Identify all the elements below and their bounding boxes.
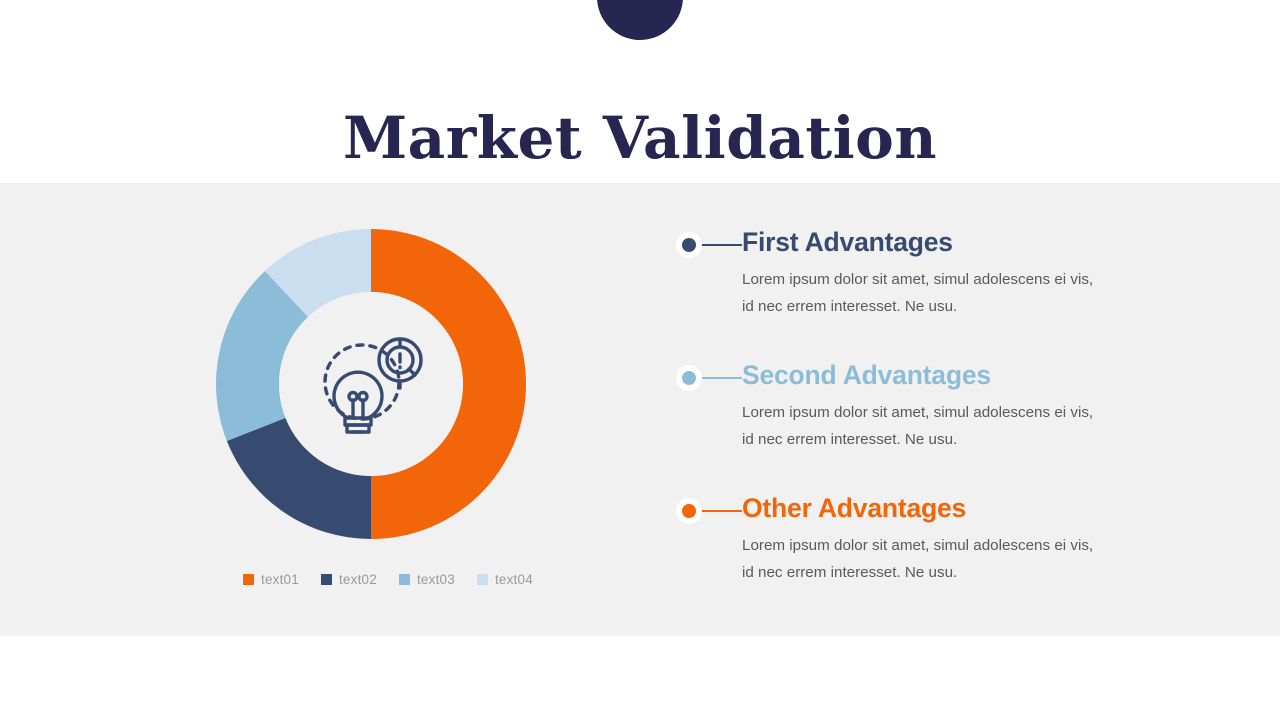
top-decoration-circle [597,0,683,40]
legend-label: text04 [495,572,533,587]
legend-swatch-icon [321,574,332,585]
lightbulb-alert-icon [312,330,430,438]
legend-item-text01[interactable]: text01 [243,572,299,587]
bullet-ring-icon [676,498,702,524]
legend-label: text03 [417,572,455,587]
advantage-body: Lorem ipsum dolor sit amet, simul adoles… [742,266,1094,320]
advantage-item[interactable]: First AdvantagesLorem ipsum dolor sit am… [676,225,1106,320]
legend-swatch-icon [477,574,488,585]
bullet-ring-icon [676,232,702,258]
advantage-body: Lorem ipsum dolor sit amet, simul adoles… [742,399,1094,453]
connector-line [702,510,742,512]
legend-swatch-icon [399,574,410,585]
donut-center-hub [279,292,463,476]
chart-legend: text01text02text03text04 [243,572,533,587]
advantage-marker [676,498,742,524]
connector-line [702,377,742,379]
legend-swatch-icon [243,574,254,585]
bullet-dot-icon [682,371,696,385]
advantage-marker [676,365,742,391]
advantage-body: Lorem ipsum dolor sit amet, simul adoles… [742,532,1094,586]
connector-line [702,244,742,246]
advantage-item[interactable]: Second AdvantagesLorem ipsum dolor sit a… [676,358,1106,453]
legend-item-text04[interactable]: text04 [477,572,533,587]
bullet-dot-icon [682,238,696,252]
advantage-item[interactable]: Other AdvantagesLorem ipsum dolor sit am… [676,491,1106,586]
legend-label: text02 [339,572,377,587]
slide-canvas: Market Validation [0,0,1280,720]
page-title: Market Validation [0,98,1280,178]
advantage-heading: First Advantages [742,225,1106,259]
advantages-list: First AdvantagesLorem ipsum dolor sit am… [676,225,1106,586]
legend-item-text02[interactable]: text02 [321,572,377,587]
advantage-heading: Other Advantages [742,491,1106,525]
bullet-ring-icon [676,365,702,391]
legend-label: text01 [261,572,299,587]
advantage-heading: Second Advantages [742,358,1106,392]
legend-item-text03[interactable]: text03 [399,572,455,587]
advantage-marker [676,232,742,258]
bullet-dot-icon [682,504,696,518]
